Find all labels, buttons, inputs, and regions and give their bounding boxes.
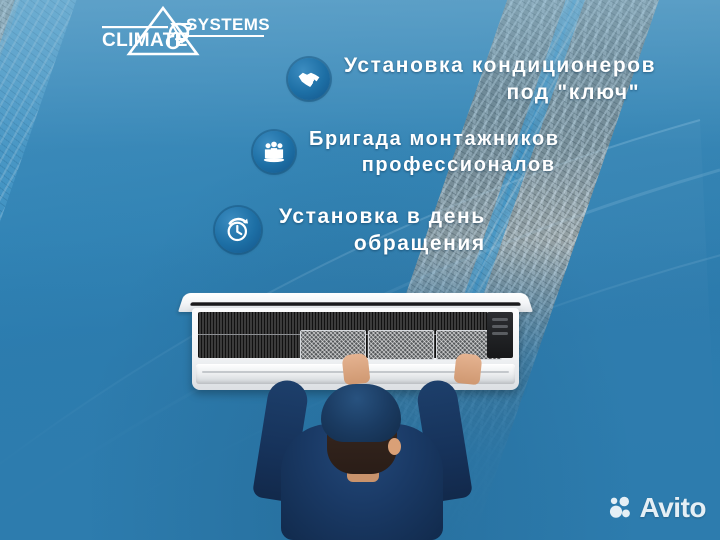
benefit-item-turnkey-installation: Установка кондиционеров под "ключ" <box>288 52 656 107</box>
benefit-item-professional-team: Бригада монтажников профессионалов <box>253 126 560 178</box>
team-people-icon <box>253 131 295 173</box>
avito-watermark: Avito <box>608 492 706 524</box>
benefit-item-same-day-service: Установка в день обращения <box>215 203 486 258</box>
benefit-text: Бригада монтажников профессионалов <box>309 126 560 178</box>
benefit-line-1: Бригада монтажников <box>309 128 560 150</box>
climate-systems-logo[interactable]: CLIMATE SYSTEMS <box>100 2 270 60</box>
advertisement-banner: CLIMATE SYSTEMS Установка кондиционеров … <box>0 0 720 540</box>
benefit-line-2: профессионалов <box>309 152 560 178</box>
benefit-text: Установка кондиционеров под "ключ" <box>344 52 656 107</box>
clock-fast-service-icon <box>215 207 261 253</box>
benefit-line-2: под "ключ" <box>344 79 656 106</box>
benefit-line-1: Установка в день <box>275 203 486 230</box>
technician-cap <box>321 384 401 442</box>
benefit-line-1: Установка кондиционеров <box>344 52 656 79</box>
technician-figure <box>255 372 470 540</box>
avito-wordmark: Avito <box>640 492 706 524</box>
logo-text-climate: CLIMATE <box>102 30 188 51</box>
avito-dots-icon <box>608 495 634 521</box>
benefit-text: Установка в день обращения <box>275 203 486 258</box>
logo-text-systems: SYSTEMS <box>186 15 270 34</box>
handshake-icon <box>288 58 330 100</box>
ac-filter <box>368 330 434 360</box>
ac-control-panel <box>487 312 513 358</box>
logo-svg: CLIMATE SYSTEMS <box>100 2 270 60</box>
technician-ear <box>388 438 401 455</box>
technician-right-hand <box>454 353 483 386</box>
technician-left-hand <box>342 353 371 386</box>
benefit-line-2: обращения <box>275 230 486 257</box>
